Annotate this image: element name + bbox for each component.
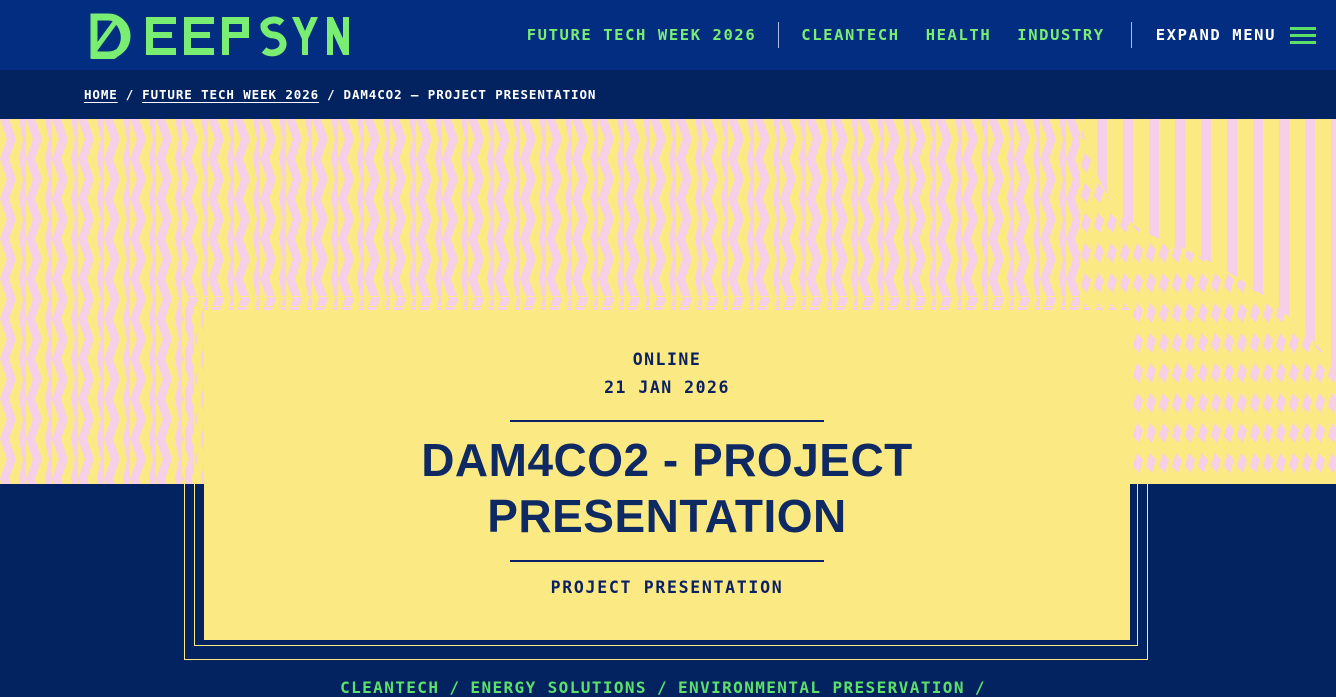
event-subtitle: PROJECT PRESENTATION [551, 578, 784, 597]
main-nav: FUTURE TECH WEEK 2026 CLEANTECH HEALTH I… [527, 0, 1336, 70]
tag-list: CLEANTECH / ENERGY SOLUTIONS / ENVIRONME… [0, 678, 1336, 697]
hamburger-icon[interactable] [1290, 27, 1316, 44]
breadcrumb-item-home[interactable]: HOME [84, 87, 118, 102]
tag-separator-3: / [975, 678, 986, 697]
nav-divider [778, 22, 779, 48]
expand-menu-button[interactable]: EXPAND MENU [1156, 26, 1316, 44]
breadcrumb: HOME / FUTURE TECH WEEK 2026 / DAM4CO2 –… [84, 87, 596, 102]
nav-divider-2 [1131, 22, 1132, 48]
breadcrumb-item-current: DAM4CO2 – PROJECT PRESENTATION [344, 87, 597, 102]
breadcrumb-separator-2: / [327, 87, 335, 102]
breadcrumb-separator: / [126, 87, 134, 102]
event-location: ONLINE [633, 346, 702, 374]
page-title: DAM4CO2 - PROJECT PRESENTATION [247, 432, 1087, 544]
divider-top [510, 420, 824, 422]
tag-separator-1: / [449, 678, 460, 697]
site-logo[interactable] [84, 11, 349, 59]
nav-item-future-tech-week[interactable]: FUTURE TECH WEEK 2026 [527, 26, 757, 44]
deepsync-leaf-logo [84, 11, 349, 59]
nav-item-cleantech[interactable]: CLEANTECH [801, 26, 899, 44]
expand-menu-label: EXPAND MENU [1156, 26, 1276, 44]
nav-item-health[interactable]: HEALTH [926, 26, 992, 44]
event-hero-card: ONLINE 21 JAN 2026 DAM4CO2 - PROJECT PRE… [204, 310, 1130, 640]
tag-separator-2: / [657, 678, 668, 697]
nav-item-industry[interactable]: INDUSTRY [1017, 26, 1104, 44]
breadcrumb-item-future-tech-week[interactable]: FUTURE TECH WEEK 2026 [142, 87, 319, 102]
breadcrumb-bar: HOME / FUTURE TECH WEEK 2026 / DAM4CO2 –… [0, 70, 1336, 119]
event-date: 21 JAN 2026 [604, 374, 730, 402]
tag-energy-solutions[interactable]: ENERGY SOLUTIONS [470, 678, 647, 697]
tag-cleantech[interactable]: CLEANTECH [340, 678, 439, 697]
site-header: FUTURE TECH WEEK 2026 CLEANTECH HEALTH I… [0, 0, 1336, 70]
tag-environmental-preservation[interactable]: ENVIRONMENTAL PRESERVATION [678, 678, 965, 697]
divider-bottom [510, 560, 824, 562]
